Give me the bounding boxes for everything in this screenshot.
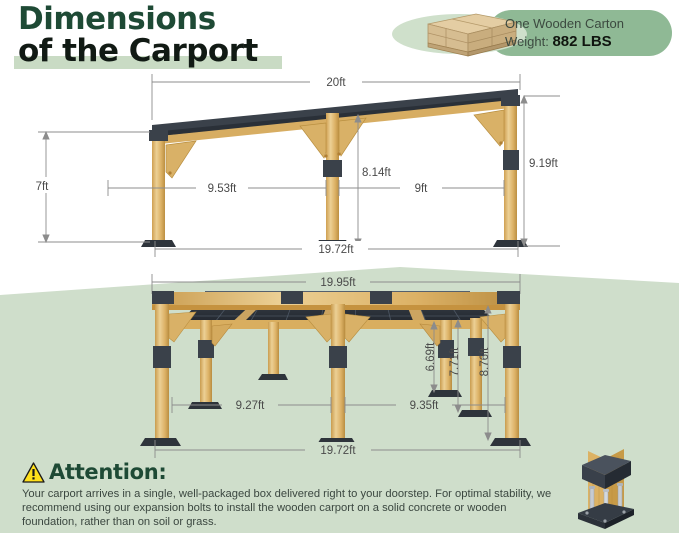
- post-base-detail-icon: [560, 443, 650, 531]
- diagram-perspective-view: 19.95ft: [0, 262, 679, 462]
- badge-carton-label: One Wooden Carton: [505, 15, 624, 32]
- carton-badge: One Wooden Carton Weight: 882 LBS: [390, 8, 672, 58]
- dimension-label-19-72ft-top: 19.72ft: [318, 244, 354, 256]
- dimension-label-19-72ft-bottom: 19.72ft: [320, 445, 356, 457]
- wooden-carton-icon: [398, 12, 520, 58]
- dimension-label-8-14ft: 8.14ft: [362, 167, 392, 179]
- attention-block: Attention: Your carport arrives in a sin…: [22, 460, 562, 530]
- badge-weight-value: 882 LBS: [552, 33, 611, 50]
- dimension-label-7ft: 7ft: [36, 181, 50, 193]
- warning-triangle-icon: [22, 462, 45, 483]
- attention-header: Attention:: [22, 460, 562, 484]
- diagram-side-elevation: 20ft: [0, 60, 679, 265]
- dimension-label-9-53ft: 9.53ft: [208, 183, 238, 195]
- dimension-label-9-35ft: 9.35ft: [410, 400, 440, 412]
- title-line-1: Dimensions: [18, 2, 348, 36]
- attention-title: Attention:: [49, 460, 167, 484]
- dimension-label-9-27ft: 9.27ft: [236, 400, 266, 412]
- product-dimension-infographic: Dimensions of the Carport: [0, 0, 679, 533]
- dimension-label-9ft: 9ft: [415, 183, 429, 195]
- badge-weight-label: Weight:: [505, 34, 549, 49]
- dimension-label-19-95ft: 19.95ft: [320, 277, 356, 289]
- dimension-label-9-19ft: 9.19ft: [529, 158, 559, 170]
- badge-weight-row: Weight: 882 LBS: [505, 32, 624, 51]
- dimension-label-8-76ft: 8.76ft: [479, 347, 491, 377]
- dimension-label-20ft: 20ft: [326, 77, 346, 89]
- attention-body: Your carport arrives in a single, well-p…: [22, 487, 562, 530]
- badge-text-group: One Wooden Carton Weight: 882 LBS: [505, 15, 624, 51]
- dimension-8-14ft: [355, 115, 361, 246]
- dimension-label-7-71ft: 7.71ft: [449, 347, 461, 377]
- dimension-label-6-69ft: 6.69ft: [425, 342, 437, 372]
